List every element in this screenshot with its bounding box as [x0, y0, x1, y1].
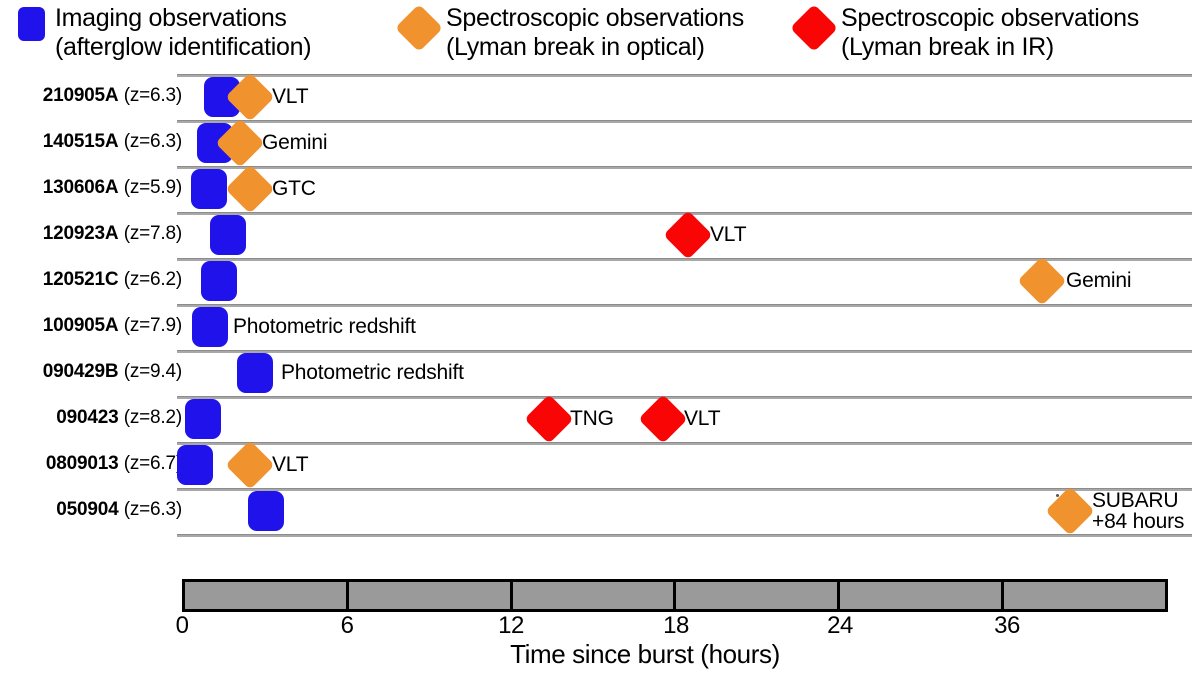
axis-title: Time since burst (hours) [0, 639, 1200, 670]
marker-label-text: VLT [272, 85, 308, 108]
spectroscopic-optical-marker[interactable] [225, 440, 274, 489]
marker-label-text: TNG [570, 407, 614, 430]
marker-label: VLT [272, 454, 308, 476]
timeline-row: 090423 (z=8.2)TNGVLT [0, 396, 1200, 442]
legend-label-line2: (Lyman break in optical) [446, 33, 744, 62]
grb-name: 130606A [43, 177, 119, 198]
axis-segment [185, 582, 349, 609]
legend-label-line2: (afterglow identification) [55, 33, 311, 62]
imaging-observation-marker[interactable] [210, 215, 246, 255]
row-label: 130606A (z=5.9) [0, 175, 182, 201]
row-label: 210905A (z=6.3) [0, 83, 182, 109]
grb-redshift: (z=8.2) [124, 407, 182, 428]
marker-label-text: VLT [710, 223, 746, 246]
row-separator-line [177, 74, 1192, 77]
spectroscopic-optical-marker[interactable] [1045, 486, 1094, 535]
spectroscopic-ir-marker[interactable] [663, 210, 712, 259]
legend-item-label: Spectroscopic observations(Lyman break i… [841, 4, 1139, 62]
grb-name: 120923A [43, 223, 119, 244]
marker-label: VLT [710, 224, 746, 246]
timeline-row: 210905A (z=6.3)VLT [0, 74, 1200, 120]
marker-label: VLT [684, 408, 720, 430]
spectroscopic-optical-marker[interactable] [225, 164, 274, 213]
grb-name: 0809013 [46, 453, 119, 474]
legend-item-label: Spectroscopic observations(Lyman break i… [446, 4, 744, 62]
legend-item-2: Spectroscopic observations(Lyman break i… [402, 4, 744, 62]
row-separator-line [177, 442, 1192, 445]
axis-tick-label: 12 [498, 613, 524, 639]
axis-segment [513, 582, 677, 609]
marker-label-text: VLT [272, 453, 308, 476]
red-diamond-icon [790, 4, 838, 52]
row-label: 120521C (z=6.2) [0, 267, 182, 293]
imaging-observation-marker[interactable] [185, 399, 221, 439]
row-separator-line [177, 396, 1192, 399]
marker-label-text: Photometric redshift [281, 361, 464, 384]
orange-diamond-icon [395, 4, 443, 52]
timeline-row: 130606A (z=5.9)GTC [0, 166, 1200, 212]
row-label: 100905A (z=7.9) [0, 313, 182, 339]
row-separator-line [177, 488, 1192, 491]
imaging-observation-marker[interactable] [177, 445, 213, 485]
axis-tick-label: 6 [341, 613, 354, 639]
legend: Imaging observations(afterglow identific… [0, 0, 1200, 72]
marker-label: GTC [272, 178, 316, 200]
row-label: 0809013 (z=6.7) [0, 451, 182, 477]
timeline-row: 0809013 (z=6.7)VLT [0, 442, 1200, 488]
spectroscopic-optical-marker[interactable] [1017, 256, 1066, 305]
row-label: 090423 (z=8.2) [0, 405, 182, 431]
grb-redshift: (z=7.8) [124, 223, 182, 244]
marker-label-text: Gemini [1066, 269, 1131, 292]
row-label: 120923A (z=7.8) [0, 221, 182, 247]
grb-name: 100905A [43, 315, 119, 336]
grb-name: 120521C [43, 269, 119, 290]
marker-label: SUBARU+84 hours [1092, 490, 1184, 532]
legend-item-label: Imaging observations(afterglow identific… [55, 4, 311, 62]
grb-name: 050904 [56, 499, 118, 520]
axis-tick-label: 18 [663, 613, 689, 639]
marker-label-text: Photometric redshift [233, 315, 416, 338]
marker-label: Gemini [1066, 270, 1131, 292]
legend-label-line2: (Lyman break in IR) [841, 33, 1139, 62]
axis-segment [676, 582, 840, 609]
axis-title-text: Time since burst (hours) [420, 639, 780, 670]
axis-tick-label: 24 [827, 613, 853, 639]
marker-label-text: Gemini [262, 131, 327, 154]
spectroscopic-ir-marker[interactable] [638, 394, 687, 443]
legend-label-line1: Imaging observations [55, 4, 287, 32]
marker-label: TNG [570, 408, 614, 430]
axis-tick-label: 36 [994, 613, 1020, 639]
legend-item-1: Imaging observations(afterglow identific… [18, 4, 311, 62]
axis-bar [182, 579, 1168, 612]
grb-redshift: (z=7.9) [124, 315, 182, 336]
marker-label-text: VLT [684, 407, 720, 430]
marker-label: VLT [272, 86, 308, 108]
spectroscopic-ir-marker[interactable] [524, 394, 573, 443]
row-separator-line [177, 304, 1192, 307]
grb-redshift: (z=9.4) [124, 361, 182, 382]
grb-name: 090423 [56, 407, 118, 428]
blue-rounded-square-icon [18, 7, 45, 41]
grb-name: 140515A [43, 131, 119, 152]
row-separator-line [177, 350, 1192, 353]
grb-name: 090429B [43, 361, 119, 382]
grb-redshift: (z=6.3) [124, 85, 182, 106]
grb-redshift: (z=6.2) [124, 269, 182, 290]
row-label: 090429B (z=9.4) [0, 359, 182, 385]
timeline-row: 090429B (z=9.4)Photometric redshift [0, 350, 1200, 396]
grb-observation-timeline-figure: Imaging observations(afterglow identific… [0, 0, 1200, 673]
marker-label-text: SUBARU [1092, 489, 1178, 512]
imaging-observation-marker[interactable] [237, 353, 273, 393]
imaging-observation-marker[interactable] [191, 169, 227, 209]
row-separator-line [177, 120, 1192, 123]
imaging-observation-marker[interactable] [192, 307, 228, 347]
timeline-row: 120923A (z=7.8)VLT [0, 212, 1200, 258]
row-label: 050904 (z=6.3) [0, 497, 182, 523]
axis-segment [1004, 582, 1165, 609]
grb-redshift: (z=5.9) [124, 177, 182, 198]
marker-label: Photometric redshift [281, 362, 464, 384]
marker-label-text: GTC [272, 177, 316, 200]
row-label: 140515A (z=6.3) [0, 129, 182, 155]
timeline-row: 050904 (z=6.3)SUBARU+84 hours [0, 488, 1200, 534]
imaging-observation-marker[interactable] [248, 491, 284, 531]
grb-redshift: (z=6.3) [124, 131, 182, 152]
timeline-row: 120521C (z=6.2)Gemini [0, 258, 1200, 304]
row-separator-line [177, 166, 1192, 169]
timeline-row: 100905A (z=7.9)Photometric redshift [0, 304, 1200, 350]
grb-redshift: (z=6.7) [124, 453, 182, 474]
legend-label-line1: Spectroscopic observations [841, 4, 1139, 32]
grb-redshift: (z=6.3) [124, 499, 182, 520]
marker-label: Photometric redshift [233, 316, 416, 338]
legend-item-3: Spectroscopic observations(Lyman break i… [797, 4, 1139, 62]
marker-label-subtext: +84 hours [1092, 511, 1184, 532]
timeline-rows: 210905A (z=6.3)VLT140515A (z=6.3)Gemini1… [0, 74, 1200, 559]
timeline-row: 140515A (z=6.3)Gemini [0, 120, 1200, 166]
imaging-observation-marker[interactable] [201, 261, 237, 301]
legend-label-line1: Spectroscopic observations [446, 4, 744, 32]
axis-segment [349, 582, 513, 609]
axis-segment [840, 582, 1004, 609]
row-separator-line [177, 534, 1192, 537]
grb-name: 210905A [43, 85, 119, 106]
axis-tick-label: 0 [176, 613, 189, 639]
marker-label: Gemini [262, 132, 327, 154]
time-axis: Time since burst (hours) 0612182436 [0, 560, 1200, 673]
